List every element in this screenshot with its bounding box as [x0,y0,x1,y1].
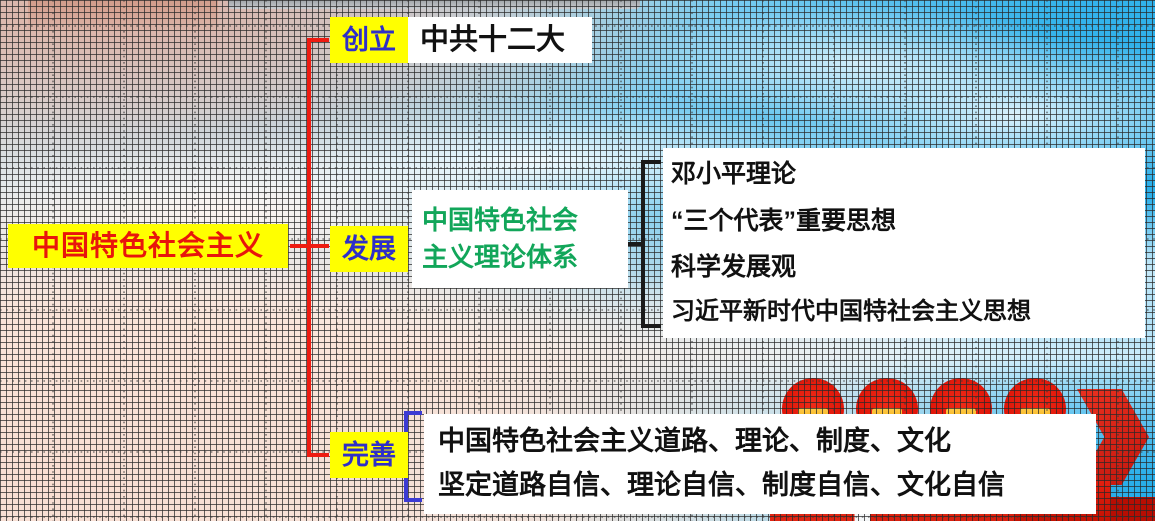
branch-label-text: 发展 [342,236,396,263]
background-rose-bar [28,0,218,34]
page-title: 中国特色社会主义 [8,224,288,268]
theory-list-item: 科学发展观 [671,244,796,290]
theory-list: 邓小平理论 “三个代表”重要思想 科学发展观 习近平新时代中国特社会主义思想 [663,148,1145,338]
theory-list-item: “三个代表”重要思想 [671,198,896,244]
background-gray-bar [228,0,640,9]
improvement-list-item: 坚定道路自信、理论自信、制度自信、文化自信 [438,464,1005,508]
branch-label-chuangli[interactable]: 创立 [330,17,408,63]
theory-list-item: 邓小平理论 [671,151,796,197]
branch-content-text: 中共十二大 [420,26,565,55]
page-title-label: 中国特色社会主义 [32,232,264,260]
slide-canvas: 中国特色社会主义 创立 中共十二大 发展 中国特色社会 主义理论体系 邓小平理论… [0,0,1155,521]
branch-label-text: 完善 [342,442,396,469]
improvement-list-item: 中国特色社会主义道路、理论、制度、文化 [438,420,951,464]
theory-system-line-2: 主义理论体系 [422,239,578,276]
branch-label-fazhan[interactable]: 发展 [330,226,408,272]
theory-system-line-1: 中国特色社会 [422,202,578,239]
improvement-list: 中国特色社会主义道路、理论、制度、文化 坚定道路自信、理论自信、制度自信、文化自… [424,414,1096,514]
theory-list-item: 习近平新时代中国特社会主义思想 [671,290,1031,334]
theory-system-box: 中国特色社会 主义理论体系 [412,190,628,288]
branch-label-wanshan[interactable]: 完善 [330,432,408,478]
branch-content-chuangli: 中共十二大 [408,17,592,63]
branch-label-text: 创立 [342,27,396,54]
